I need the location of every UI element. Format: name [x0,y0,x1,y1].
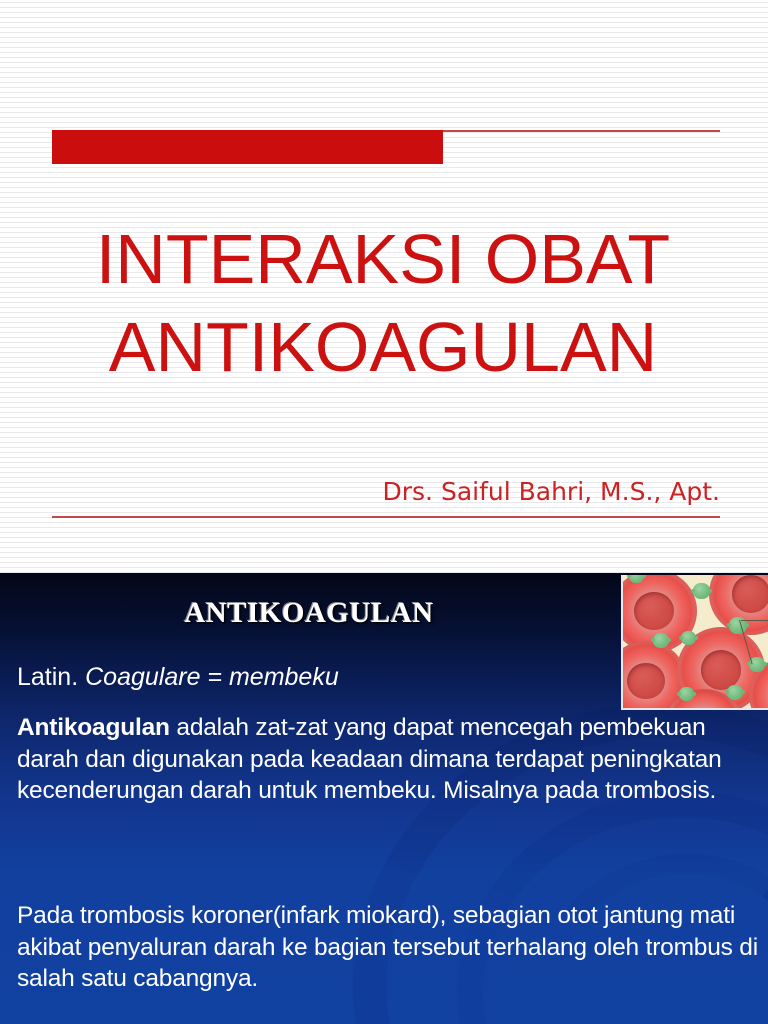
latin-definition: Latin. Coagulare = membeku [17,662,339,692]
definition-paragraph: Antikoagulan adalah zat-zat yang dapat m… [17,712,762,807]
definition-term: Antikoagulan [17,714,170,741]
red-accent-bar [52,130,443,164]
title-slide: INTERAKSI OBAT ANTIKOAGULAN Drs. Saiful … [0,0,768,573]
title-line-1: INTERAKSI OBAT [38,215,728,303]
thrombosis-paragraph: Pada trombosis koroner(infark miokard), … [17,900,768,995]
slide-deck-page: INTERAKSI OBAT ANTIKOAGULAN Drs. Saiful … [0,0,768,1024]
blood-cells-image [621,575,768,710]
latin-term: Coagulare = membeku [85,663,339,691]
presentation-title: INTERAKSI OBAT ANTIKOAGULAN [38,215,728,391]
content-slide: ANTIKOAGULAN Latin. Coagulare = membeku [0,573,768,1024]
latin-label: Latin. [17,663,78,691]
bottom-horizontal-rule [52,516,720,518]
author-byline: Drs. Saiful Bahri, M.S., Apt. [52,475,720,509]
top-horizontal-rule [443,130,720,132]
title-line-2: ANTIKOAGULAN [38,303,728,391]
